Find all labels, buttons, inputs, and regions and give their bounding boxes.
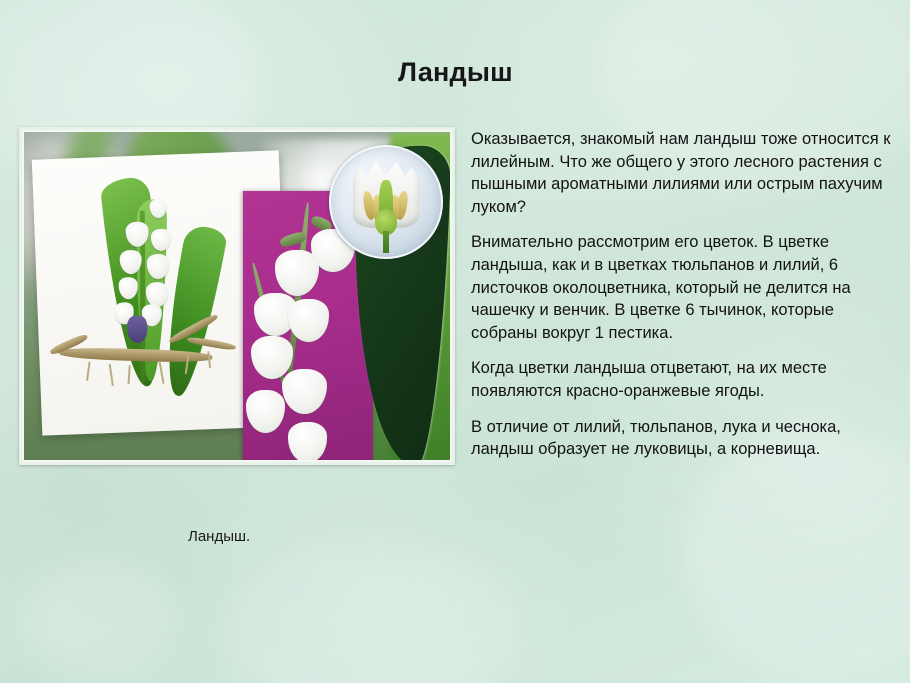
photo-bell-flower (288, 422, 327, 460)
composite-photo (22, 130, 452, 462)
illustration-root-hair (86, 361, 90, 380)
body-paragraph: Когда цветки ландыша отцветают, на их ме… (471, 357, 899, 402)
photo-bell-flower (282, 369, 326, 415)
illustration-root-hair (127, 366, 130, 385)
photo-bell-flower (251, 336, 293, 379)
illustration-root-hair (109, 363, 114, 385)
figure-caption: Ландыш. (188, 528, 250, 545)
illustration-leaf-right (155, 223, 228, 399)
background-watermark-4 (220, 540, 520, 683)
page-title: Ландыш (398, 58, 513, 88)
photo-bell-flower (246, 390, 285, 433)
body-paragraph: В отличие от лилий, тюльпанов, лука и че… (471, 416, 899, 461)
body-text-column: Оказывается, знакомый нам ландыш тоже от… (471, 128, 899, 474)
slide-canvas: Ландыш (0, 0, 910, 683)
body-paragraph: Внимательно рассмотрим его цветок. В цве… (471, 231, 899, 344)
flower-cross-section-inset (329, 145, 444, 259)
illustration-root-hair (158, 362, 163, 384)
cross-section-stem (383, 231, 390, 253)
figure-frame (19, 127, 455, 465)
photo-bell-flower (288, 299, 330, 342)
photo-bell-flower (275, 250, 319, 296)
background-watermark-5 (20, 560, 180, 680)
body-paragraph: Оказывается, знакомый нам ландыш тоже от… (471, 128, 899, 218)
